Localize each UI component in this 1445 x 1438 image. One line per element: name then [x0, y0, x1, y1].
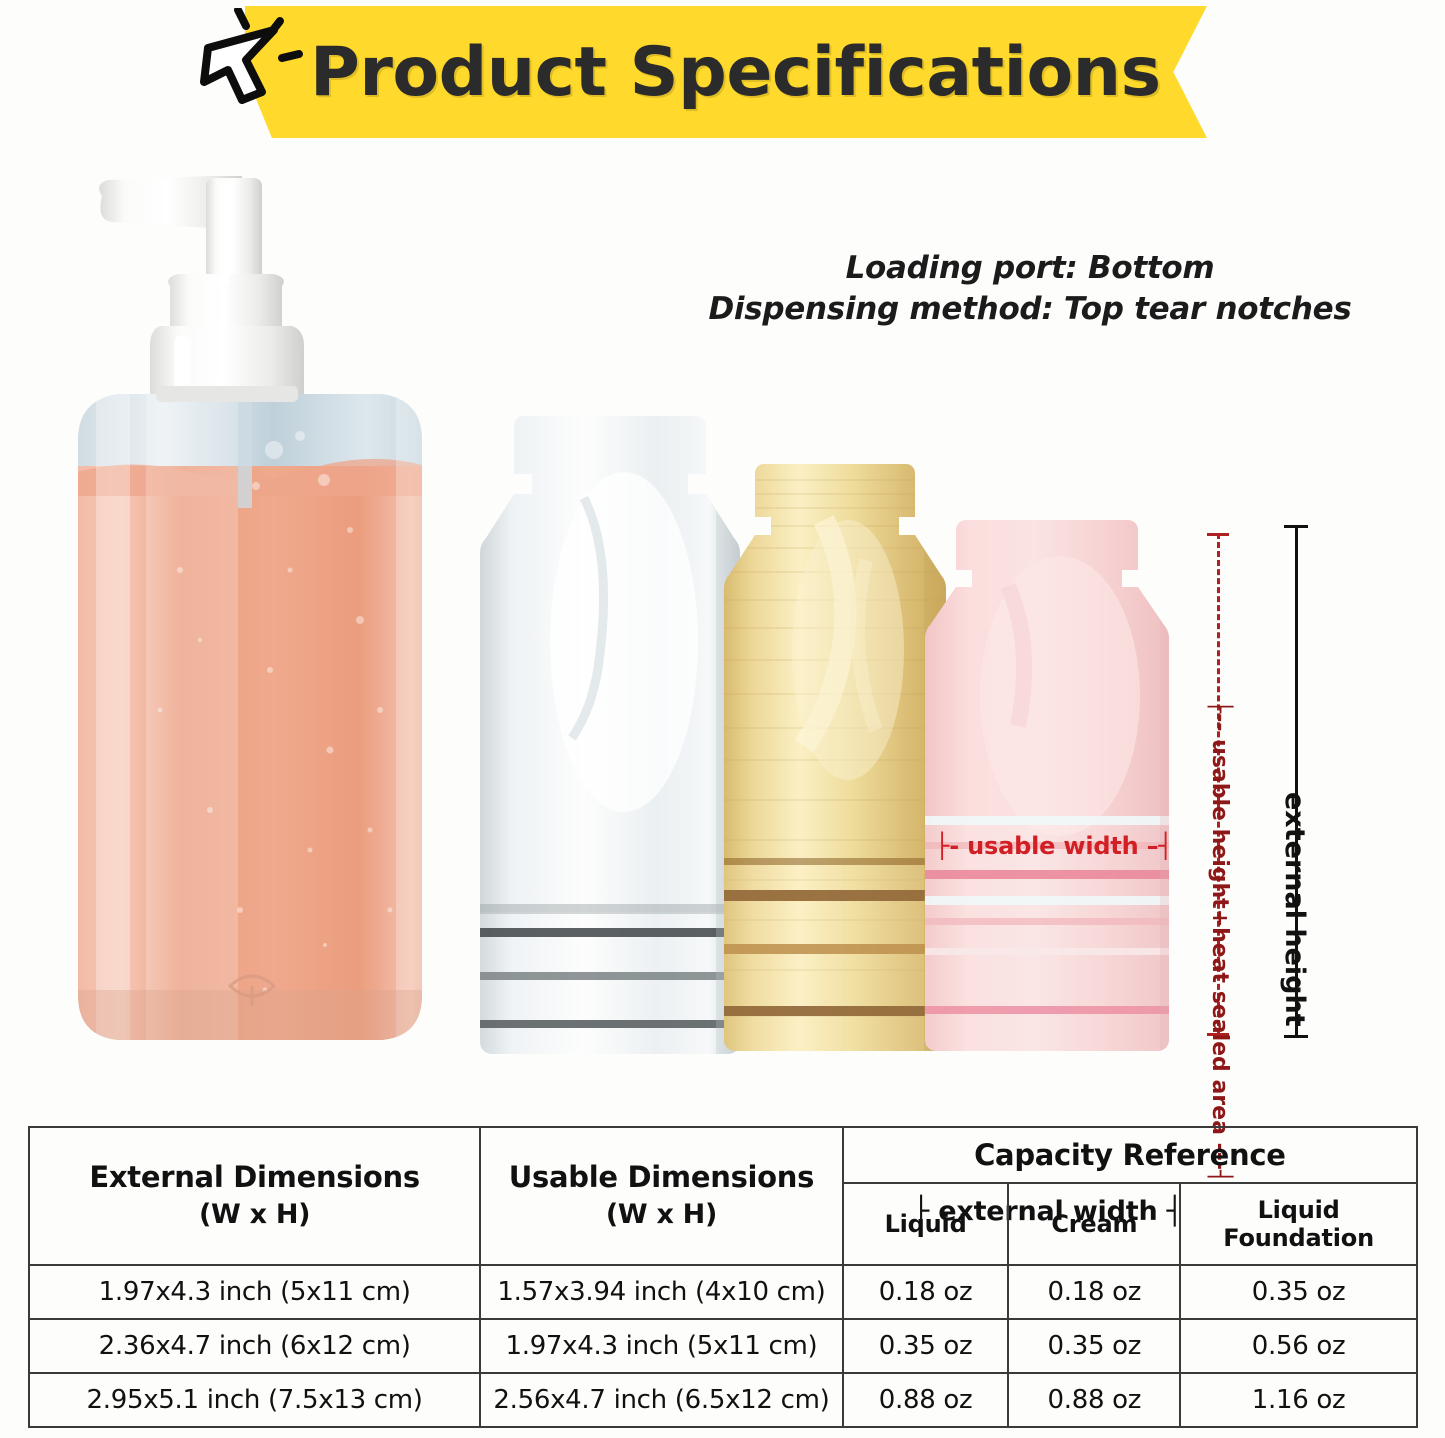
cell-usable-dimension: 2.56x4.7 inch (6.5x12 cm)	[480, 1373, 842, 1427]
header-external-dimensions: External Dimensions (W x H)	[29, 1127, 480, 1265]
pink-sachet	[924, 516, 1202, 1060]
table-header-row: External Dimensions (W x H) Usable Dimen…	[29, 1127, 1417, 1183]
header-liquid: Liquid	[843, 1183, 1009, 1265]
external-height-annotation: external height	[1279, 792, 1310, 1027]
cell-usable-dimension: 1.57x3.94 inch (4x10 cm)	[480, 1265, 842, 1319]
cell-liquid: 0.88 oz	[843, 1373, 1009, 1427]
cell-external-dimension: 1.97x4.3 inch (5x11 cm)	[29, 1265, 480, 1319]
usable-height-annotation: ├-- usable height+heat sealed area ---┤	[1207, 700, 1232, 1183]
cell-liquid: 0.35 oz	[843, 1319, 1009, 1373]
table-row: 2.95x5.1 inch (7.5x13 cm) 2.56x4.7 inch …	[29, 1373, 1417, 1427]
header-liquid-foundation: Liquid Foundation	[1180, 1183, 1417, 1265]
cell-liquid-foundation: 1.16 oz	[1180, 1373, 1417, 1427]
cell-cream: 0.88 oz	[1008, 1373, 1180, 1427]
cell-external-dimension: 2.36x4.7 inch (6x12 cm)	[29, 1319, 480, 1373]
header-cream: Cream	[1008, 1183, 1180, 1265]
cell-liquid: 0.18 oz	[843, 1265, 1009, 1319]
cell-liquid-foundation: 0.56 oz	[1180, 1319, 1417, 1373]
cell-cream: 0.18 oz	[1008, 1265, 1180, 1319]
header-usable-dimensions: Usable Dimensions (W x H)	[480, 1127, 842, 1265]
header-capacity-reference: Capacity Reference	[843, 1127, 1417, 1183]
specification-table: External Dimensions (W x H) Usable Dimen…	[28, 1126, 1418, 1428]
table-row: 1.97x4.3 inch (5x11 cm) 1.57x3.94 inch (…	[29, 1265, 1417, 1319]
pump-dispenser-bottle	[60, 150, 440, 1060]
product-scene: ├- usable width –┤ ├ external width ┤ ├-…	[0, 140, 1445, 1110]
cell-external-dimension: 2.95x5.1 inch (7.5x13 cm)	[29, 1373, 480, 1427]
page-title: Product Specifications	[310, 18, 1170, 126]
cell-liquid-foundation: 0.35 oz	[1180, 1265, 1417, 1319]
click-cursor-icon	[186, 8, 306, 128]
cell-usable-dimension: 1.97x4.3 inch (5x11 cm)	[480, 1319, 842, 1373]
table-row: 2.36x4.7 inch (6x12 cm) 1.97x4.3 inch (5…	[29, 1319, 1417, 1373]
external-height-bottom-cap	[1284, 1035, 1308, 1038]
cell-cream: 0.35 oz	[1008, 1319, 1180, 1373]
header-banner: Product Specifications	[0, 0, 1445, 150]
usable-width-annotation: ├- usable width –┤	[935, 832, 1173, 860]
